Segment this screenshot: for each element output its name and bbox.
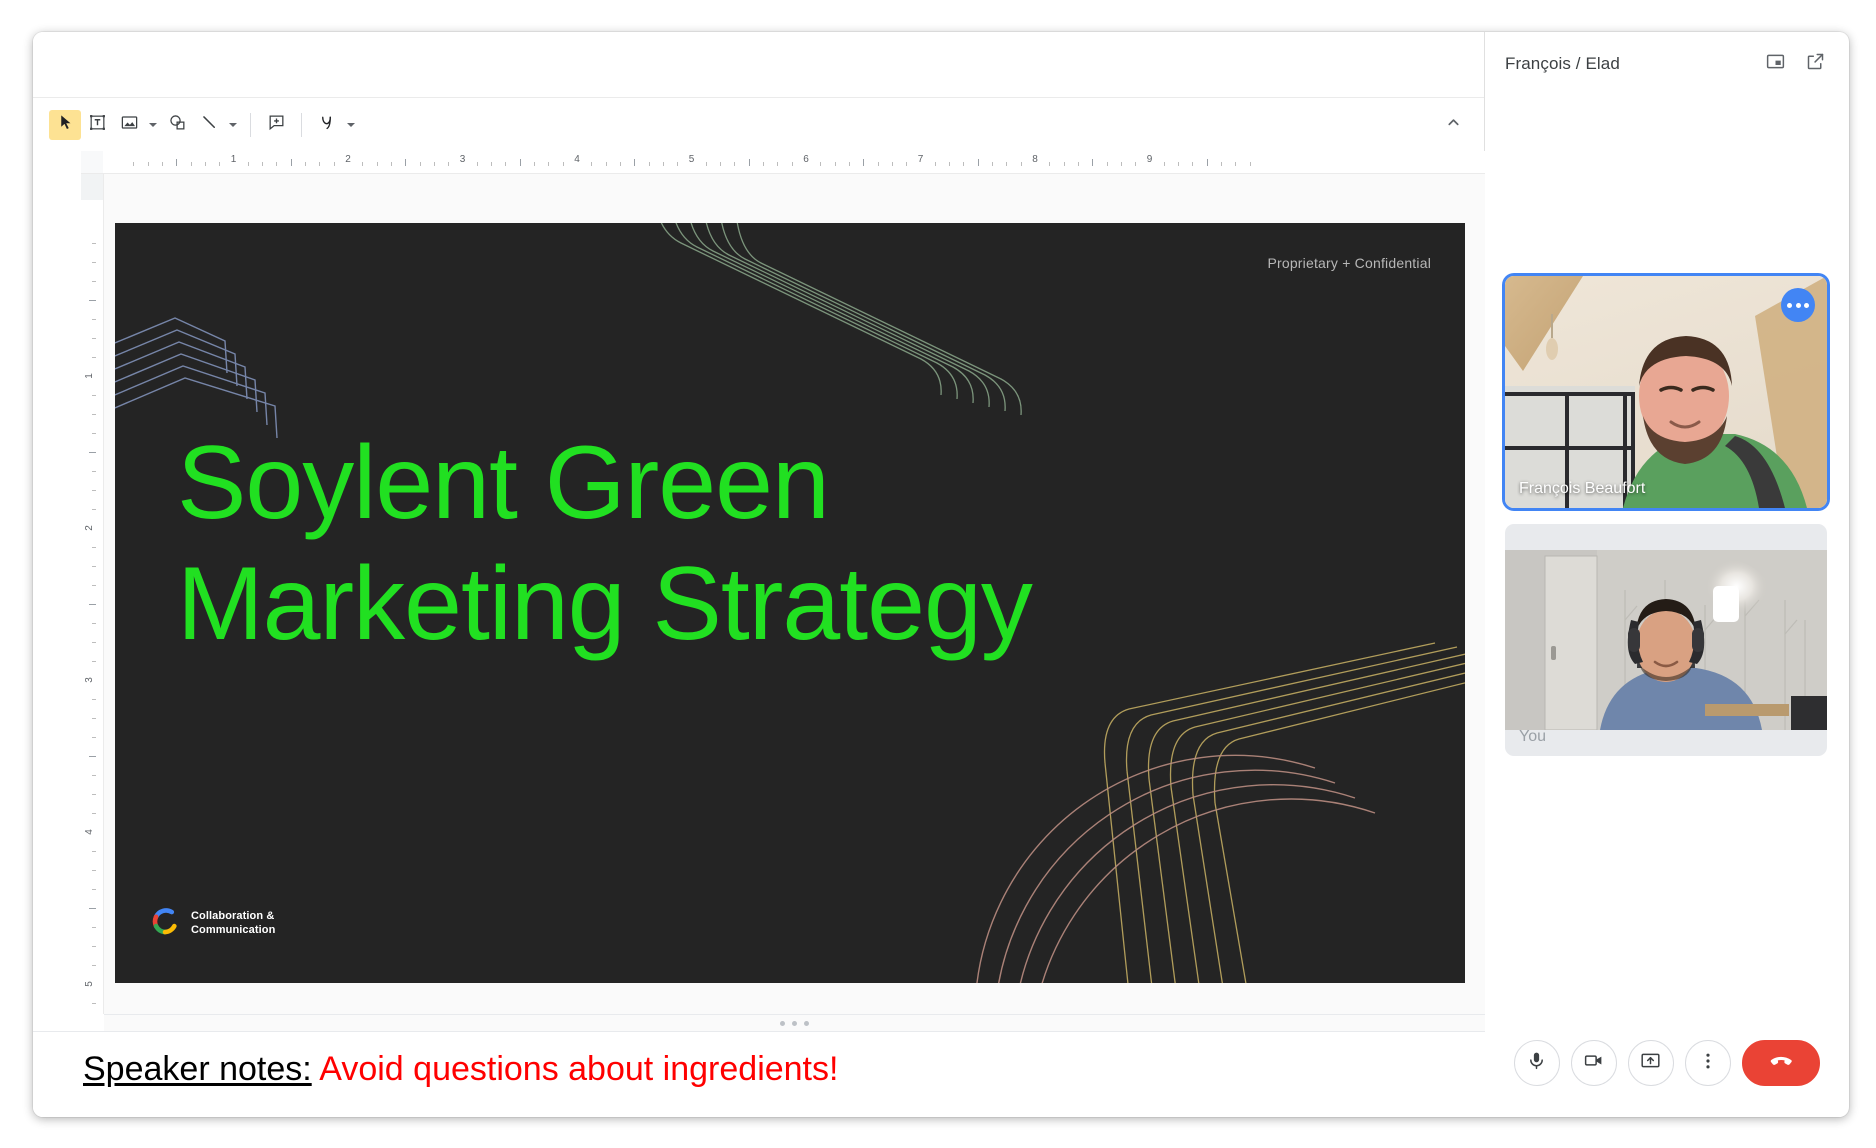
ruler-tick [92, 718, 96, 719]
collapse-toolbar-button[interactable] [1436, 110, 1470, 140]
meet-controls-bar [1485, 1009, 1848, 1117]
ruler-tick [677, 162, 678, 166]
ruler-tick [1078, 162, 1079, 166]
ruler-number: 3 [84, 677, 95, 683]
ruler-number: 4 [84, 829, 95, 835]
ruler-tick [1192, 162, 1193, 166]
ruler-tick [1235, 162, 1236, 166]
ruler-tick [89, 604, 96, 605]
textbox-tool-button[interactable] [81, 110, 113, 140]
speaker-notes-label: Speaker notes: [83, 1050, 312, 1088]
more-options-icon [1787, 303, 1792, 308]
participant-name-you: You [1519, 728, 1546, 746]
participant-tile-francois[interactable]: François Beaufort [1505, 276, 1827, 508]
chevron-up-icon [1446, 115, 1461, 135]
ruler-tick [92, 737, 96, 738]
microphone-icon [1526, 1050, 1547, 1076]
ruler-tick [92, 661, 96, 662]
ruler-tick [92, 433, 96, 434]
ruler-tick [89, 756, 96, 757]
curve-pen-icon [318, 113, 337, 137]
ruler-number: 2 [84, 525, 95, 531]
present-button[interactable] [1628, 1040, 1674, 1086]
microphone-button[interactable] [1514, 1040, 1560, 1086]
ruler-tick [1221, 162, 1222, 166]
ruler-tick [620, 162, 621, 166]
ruler-number: 2 [345, 154, 351, 165]
screen: 123456789 12345 [0, 0, 1876, 1148]
ruler-tick [92, 813, 96, 814]
ruler-tick [1164, 162, 1165, 166]
brand-logo-text: Collaboration & Communication [191, 910, 275, 938]
ruler-tick [420, 162, 421, 166]
ruler-tick [92, 623, 96, 624]
select-tool-button[interactable] [49, 110, 81, 140]
ruler-tick [191, 162, 192, 166]
ruler-tick [89, 452, 96, 453]
speaker-notes-area[interactable]: Speaker notes: Avoid questions about ing… [33, 1031, 1485, 1117]
image-icon [120, 113, 139, 137]
ruler-tick [1092, 159, 1093, 166]
ruler-tick [963, 162, 964, 166]
ruler-tick [792, 162, 793, 166]
ruler-number: 6 [803, 154, 809, 165]
ruler-number: 5 [84, 981, 95, 987]
ruler-number: 4 [574, 154, 580, 165]
ruler-tick [362, 162, 363, 166]
camera-button[interactable] [1571, 1040, 1617, 1086]
vertical-ruler[interactable]: 12345 [81, 174, 104, 1014]
ruler-tick [92, 243, 96, 244]
comment-tool-button[interactable] [260, 110, 292, 140]
ruler-number: 1 [231, 154, 237, 165]
ruler-tick [749, 159, 750, 166]
ruler-tick [1250, 162, 1251, 166]
ruler-tick [92, 509, 96, 510]
picture-in-picture-icon [1765, 51, 1786, 77]
ruler-tick [92, 851, 96, 852]
drag-dot [804, 1021, 809, 1026]
ruler-tick [491, 162, 492, 166]
more-options-icon [1804, 303, 1809, 308]
ruler-tick [477, 162, 478, 166]
meet-panel: François / Elad [1485, 32, 1848, 1117]
ruler-tick [176, 159, 177, 166]
meet-call-title: François / Elad [1505, 54, 1752, 74]
hangup-button[interactable] [1742, 1040, 1820, 1086]
ruler-tick [205, 162, 206, 166]
slides-toolbar [33, 97, 1484, 151]
end-call-icon [1767, 1047, 1795, 1080]
ruler-tick [92, 471, 96, 472]
ruler-tick [89, 908, 96, 909]
ruler-tick [520, 159, 521, 166]
ruler-tick [591, 162, 592, 166]
video-camera-icon [1583, 1050, 1604, 1076]
popout-button[interactable] [1798, 47, 1832, 81]
add-comment-icon [267, 113, 286, 137]
ruler-tick [92, 1003, 96, 1004]
meet-header: François / Elad [1485, 32, 1848, 96]
image-tool-button[interactable] [113, 110, 145, 140]
ruler-tick [319, 162, 320, 166]
ruler-tick [133, 162, 134, 166]
ruler-number: 9 [1147, 154, 1153, 165]
ruler-tick [92, 319, 96, 320]
ruler-tick [548, 162, 549, 166]
shape-tool-button[interactable] [161, 110, 193, 140]
ruler-tick [820, 162, 821, 166]
participant-tiles: François Beaufort [1485, 96, 1848, 1009]
participant-video-francois [1505, 276, 1827, 508]
ruler-tick [649, 162, 650, 166]
brand-logo-line-1: Collaboration & [191, 910, 274, 922]
brand-logo-line-2: Communication [191, 924, 275, 936]
ruler-tick [777, 162, 778, 166]
ruler-tick [405, 159, 406, 166]
ruler-tick [92, 642, 96, 643]
drag-dot [792, 1021, 797, 1026]
picture-in-picture-button[interactable] [1758, 47, 1792, 81]
slide-title-line-2: Marketing Strategy [177, 544, 1227, 665]
ruler-tick [92, 699, 96, 700]
editor-top-strip [33, 32, 1484, 97]
toolbar-divider-1 [250, 113, 251, 137]
ruler-tick [534, 162, 535, 166]
ruler-tick [92, 357, 96, 358]
ruler-tick [763, 162, 764, 166]
image-tool-dropdown[interactable] [145, 110, 161, 140]
ruler-tick [663, 162, 664, 166]
ruler-tick [92, 490, 96, 491]
ruler-tick [1064, 162, 1065, 166]
ruler-tick [606, 162, 607, 166]
toolbar-divider-2 [301, 113, 302, 137]
ruler-tick [219, 162, 220, 166]
line-icon [200, 113, 219, 137]
ruler-tick [276, 162, 277, 166]
ruler-tick [377, 162, 378, 166]
ruler-tick [1021, 162, 1022, 166]
ruler-tick [148, 162, 149, 166]
shape-icon [168, 113, 187, 137]
ruler-tick [1121, 162, 1122, 166]
slide[interactable]: Proprietary + Confidential Soylent Green… [115, 223, 1465, 983]
ruler-tick [878, 162, 879, 166]
ruler-tick [935, 162, 936, 166]
ruler-tick [391, 162, 392, 166]
ruler-tick [92, 889, 96, 890]
ruler-tick [634, 159, 635, 166]
line-tool-button[interactable] [193, 110, 225, 140]
ruler-tick [1049, 162, 1050, 166]
ruler-tick [978, 159, 979, 166]
ruler-tick [849, 162, 850, 166]
ruler-tick [734, 162, 735, 166]
ruler-tick [92, 547, 96, 548]
notes-splitter-handle[interactable] [104, 1014, 1485, 1031]
horizontal-ruler[interactable]: 123456789 [81, 151, 1485, 174]
ruler-tick [248, 162, 249, 166]
participant-tile-you[interactable]: You [1505, 524, 1827, 756]
ruler-tick [863, 159, 864, 166]
curve-tool-button[interactable] [311, 110, 343, 140]
ruler-tick [1107, 162, 1108, 166]
ruler-tick [92, 395, 96, 396]
ruler-tick [89, 300, 96, 301]
ruler-tick [262, 162, 263, 166]
more-button[interactable] [1685, 1040, 1731, 1086]
ruler-tick [720, 162, 721, 166]
confidential-label: Proprietary + Confidential [1267, 255, 1431, 271]
ruler-tick [92, 946, 96, 947]
ruler-tick [92, 338, 96, 339]
google-c-logo-icon [148, 904, 182, 943]
present-screen-icon [1640, 1050, 1661, 1076]
ruler-tick [92, 775, 96, 776]
ruler-tick [434, 162, 435, 166]
ruler-tick [92, 927, 96, 928]
ruler-number: 7 [918, 154, 924, 165]
ruler-tick [92, 585, 96, 586]
ruler-tick [1207, 159, 1208, 166]
more-vertical-icon [1698, 1051, 1718, 1076]
slide-canvas-area[interactable]: Proprietary + Confidential Soylent Green… [104, 174, 1485, 1014]
ruler-tick [1135, 162, 1136, 166]
ruler-tick [1006, 162, 1007, 166]
ruler-v-head [81, 174, 103, 200]
ruler-tick [906, 162, 907, 166]
participant-video-you [1505, 550, 1827, 730]
more-options-icon [1796, 303, 1801, 308]
ruler-tick [92, 794, 96, 795]
ruler-number: 1 [84, 373, 95, 379]
ruler-tick [162, 162, 163, 166]
ruler-tick [291, 159, 292, 166]
brand-logo: Collaboration & Communication [148, 904, 275, 943]
participant-name-francois: François Beaufort [1519, 480, 1645, 498]
ruler-number: 5 [689, 154, 695, 165]
ruler-tick [92, 281, 96, 282]
ruler-tick [92, 870, 96, 871]
slide-title-line-1: Soylent Green [177, 423, 1227, 544]
ruler-number: 8 [1032, 154, 1038, 165]
ruler-tick [835, 162, 836, 166]
line-tool-dropdown[interactable] [225, 110, 241, 140]
ruler-tick [92, 965, 96, 966]
app-window: 123456789 12345 [33, 32, 1849, 1117]
ruler-number: 3 [460, 154, 466, 165]
tile-more-options-button[interactable] [1781, 288, 1815, 322]
ruler-tick [949, 162, 950, 166]
ruler-tick [305, 162, 306, 166]
ruler-track [103, 151, 1485, 173]
ruler-tick [505, 162, 506, 166]
ruler-tick [92, 566, 96, 567]
ruler-tick [334, 162, 335, 166]
drag-dot [780, 1021, 785, 1026]
ruler-tick [1178, 162, 1179, 166]
text-box-icon [88, 113, 107, 137]
ruler-tick [448, 162, 449, 166]
slides-editor: 123456789 12345 [33, 32, 1485, 1117]
cursor-icon [57, 114, 74, 136]
ruler-tick [992, 162, 993, 166]
curve-tool-dropdown[interactable] [343, 110, 359, 140]
slide-title[interactable]: Soylent Green Marketing Strategy [177, 423, 1227, 664]
ruler-tick [892, 162, 893, 166]
ruler-tick [563, 162, 564, 166]
ruler-tick [92, 262, 96, 263]
speaker-notes-text: Avoid questions about ingredients! [312, 1050, 839, 1088]
ruler-tick [706, 162, 707, 166]
ruler-tick [92, 414, 96, 415]
open-in-new-icon [1805, 51, 1826, 77]
